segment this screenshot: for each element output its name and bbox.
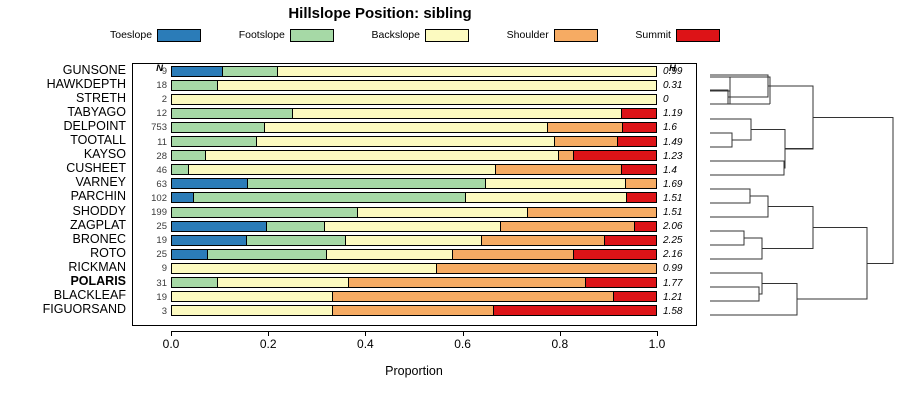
bar-segment-footslope (267, 222, 326, 231)
category-label: DELPOINT (63, 120, 126, 133)
category-label: TABYAGO (67, 106, 126, 119)
h-value: 1.51 (663, 193, 682, 204)
table-row (171, 263, 657, 274)
category-label: KAYSO (84, 148, 126, 161)
bar-segment-shoulder (501, 222, 635, 231)
x-axis-tick (560, 331, 561, 336)
category-label: PARCHIN (71, 190, 126, 203)
bar-segment-toeslope (172, 67, 223, 76)
legend-item-shoulder: Shoulder (507, 29, 598, 42)
bar-segment-summit (586, 278, 656, 287)
legend-swatch (290, 29, 334, 42)
legend-swatch (157, 29, 201, 42)
bar-segment-backslope (218, 278, 349, 287)
table-row (171, 178, 657, 189)
category-label: HAWKDEPTH (47, 78, 126, 91)
bar-segment-footslope (172, 151, 206, 160)
category-label: GUNSONE (63, 64, 126, 77)
n-value: 28 (156, 151, 167, 162)
legend-item-summit: Summit (635, 29, 720, 42)
bar-segment-backslope (172, 306, 333, 315)
category-label: SHODDY (73, 205, 126, 218)
n-value: 25 (156, 221, 167, 232)
bar-segment-shoulder (626, 179, 656, 188)
legend-label: Toeslope (110, 29, 152, 41)
bar-segment-summit (605, 236, 656, 245)
stacked-bars (171, 63, 657, 326)
x-axis-tick-label: 0.0 (163, 337, 180, 351)
legend-label: Backslope (372, 29, 420, 41)
legend-item-backslope: Backslope (372, 29, 469, 42)
category-label: STRETH (76, 92, 126, 105)
category-axis-labels: GUNSONEHAWKDEPTHSTRETHTABYAGODELPOINTTOO… (0, 63, 130, 326)
bar-segment-backslope (278, 67, 656, 76)
bar-segment-shoulder (333, 306, 494, 315)
n-value: 9 (162, 263, 167, 274)
h-value: 0.99 (663, 66, 682, 77)
bar-segment-shoulder (349, 278, 586, 287)
x-axis-tick-label: 0.4 (357, 337, 374, 351)
table-row (171, 192, 657, 203)
bar-segment-footslope (172, 208, 358, 217)
legend-label: Footslope (239, 29, 285, 41)
n-value: 12 (156, 108, 167, 119)
n-value: 18 (156, 80, 167, 91)
x-axis-title: Proportion (171, 364, 657, 378)
legend-label: Summit (635, 29, 671, 41)
bar-segment-footslope (172, 278, 218, 287)
bar-segment-backslope (206, 151, 559, 160)
bar-segment-footslope (172, 123, 265, 132)
n-value: 63 (156, 179, 167, 190)
category-label: TOOTALL (70, 134, 126, 147)
bar-segment-backslope (218, 81, 656, 90)
bar-segment-summit (623, 123, 656, 132)
h-value: 0.99 (663, 263, 682, 274)
h-value: 1.4 (663, 165, 677, 176)
table-row (171, 150, 657, 161)
bar-segment-summit (635, 222, 656, 231)
x-axis-tick (268, 331, 269, 336)
bar-segment-shoulder (482, 236, 605, 245)
n-value: 46 (156, 165, 167, 176)
bar-segment-footslope (208, 250, 327, 259)
h-value: 1.19 (663, 108, 682, 119)
bar-segment-backslope (293, 109, 622, 118)
h-value: 2.25 (663, 235, 682, 246)
bar-segment-footslope (194, 193, 466, 202)
h-value: 2.16 (663, 249, 682, 260)
bar-segment-backslope (346, 236, 482, 245)
n-value: 25 (156, 249, 167, 260)
x-axis-tick (657, 331, 658, 336)
x-axis-line (171, 331, 657, 332)
bar-segment-footslope (172, 81, 218, 90)
table-row (171, 249, 657, 260)
h-value: 0.31 (663, 80, 682, 91)
table-row (171, 221, 657, 232)
bar-segment-toeslope (172, 222, 267, 231)
bar-segment-shoulder (333, 292, 614, 301)
category-label: ROTO (90, 247, 126, 260)
h-value: 0 (663, 94, 669, 105)
n-value: 19 (156, 235, 167, 246)
table-row (171, 122, 657, 133)
dendrogram (700, 60, 900, 330)
bar-segment-footslope (172, 109, 293, 118)
bar-segment-toeslope (172, 193, 194, 202)
bar-segment-backslope (265, 123, 547, 132)
n-value: 199 (151, 207, 167, 218)
x-axis-tick-label: 0.6 (454, 337, 471, 351)
bar-segment-backslope (172, 264, 437, 273)
bar-segment-summit (574, 250, 656, 259)
bar-segment-summit (614, 292, 656, 301)
bar-segment-backslope (172, 292, 333, 301)
category-label: RICKMAN (68, 261, 126, 274)
table-row (171, 164, 657, 175)
bar-segment-footslope (223, 67, 278, 76)
h-value: 2.06 (663, 221, 682, 232)
chart-title: Hillslope Position: sibling (0, 5, 760, 22)
n-value: 2 (162, 94, 167, 105)
table-row (171, 108, 657, 119)
table-row (171, 207, 657, 218)
table-row (171, 94, 657, 105)
h-value: 1.58 (663, 306, 682, 317)
h-value: 1.6 (663, 122, 677, 133)
legend-item-footslope: Footslope (239, 29, 334, 42)
x-axis-tick (365, 331, 366, 336)
bar-segment-shoulder (496, 165, 622, 174)
table-row (171, 66, 657, 77)
n-column: N 91821275311284663102199251925931193 (132, 63, 170, 326)
bar-segment-backslope (257, 137, 555, 146)
category-label: BLACKLEAF (54, 289, 126, 302)
table-row (171, 235, 657, 246)
x-axis-tick (171, 331, 172, 336)
legend-label: Shoulder (507, 29, 549, 41)
x-axis-tick-label: 1.0 (649, 337, 666, 351)
h-value: 1.77 (663, 278, 682, 289)
table-row (171, 277, 657, 288)
bar-segment-shoulder (555, 137, 618, 146)
n-value: 3 (162, 306, 167, 317)
bar-segment-shoulder (559, 151, 574, 160)
bar-segment-footslope (172, 165, 189, 174)
category-label: FIGUORSAND (43, 303, 126, 316)
n-value: 11 (157, 137, 167, 148)
bar-segment-footslope (248, 179, 486, 188)
bar-segment-summit (618, 137, 656, 146)
h-value: 1.49 (663, 137, 682, 148)
category-label: ZAGPLAT (70, 219, 126, 232)
table-row (171, 291, 657, 302)
x-axis-tick (463, 331, 464, 336)
bar-segment-toeslope (172, 236, 247, 245)
bar-segment-shoulder (548, 123, 624, 132)
bar-segment-backslope (486, 179, 626, 188)
bar-segment-backslope (327, 250, 453, 259)
bar-segment-summit (494, 306, 656, 315)
x-axis-tick-label: 0.2 (260, 337, 277, 351)
legend-swatch (425, 29, 469, 42)
h-column: H 0.990.3101.191.61.491.231.41.691.511.5… (660, 63, 698, 326)
legend-swatch (676, 29, 720, 42)
category-label: POLARIS (70, 275, 126, 288)
bar-segment-shoulder (437, 264, 656, 273)
bar-segment-footslope (172, 137, 257, 146)
n-value: 9 (162, 66, 167, 77)
bar-segment-footslope (247, 236, 346, 245)
h-value: 1.23 (663, 151, 682, 162)
dendrogram-svg (700, 60, 900, 330)
legend: ToeslopeFootslopeBackslopeShoulderSummit (110, 26, 720, 44)
category-label: BRONEC (73, 233, 126, 246)
legend-item-toeslope: Toeslope (110, 29, 201, 42)
bar-segment-summit (622, 165, 656, 174)
legend-swatch (554, 29, 598, 42)
bar-segment-shoulder (528, 208, 656, 217)
n-value: 753 (151, 122, 167, 133)
bar-segment-toeslope (172, 179, 248, 188)
category-label: VARNEY (76, 176, 126, 189)
table-row (171, 136, 657, 147)
bar-segment-toeslope (172, 250, 208, 259)
bar-segment-summit (622, 109, 656, 118)
n-value: 31 (156, 278, 167, 289)
table-row (171, 305, 657, 316)
bar-segment-backslope (466, 193, 627, 202)
h-value: 1.21 (663, 292, 682, 303)
x-axis-tick-label: 0.8 (551, 337, 568, 351)
bar-segment-backslope (325, 222, 500, 231)
h-value: 1.51 (663, 207, 682, 218)
n-value: 19 (156, 292, 167, 303)
bar-segment-backslope (172, 95, 656, 104)
bar-segment-backslope (358, 208, 527, 217)
bar-segment-shoulder (453, 250, 574, 259)
bar-segment-backslope (189, 165, 496, 174)
bar-segment-summit (574, 151, 656, 160)
table-row (171, 80, 657, 91)
h-value: 1.69 (663, 179, 682, 190)
n-value: 102 (151, 193, 167, 204)
category-label: CUSHEET (66, 162, 126, 175)
bar-segment-summit (627, 193, 656, 202)
